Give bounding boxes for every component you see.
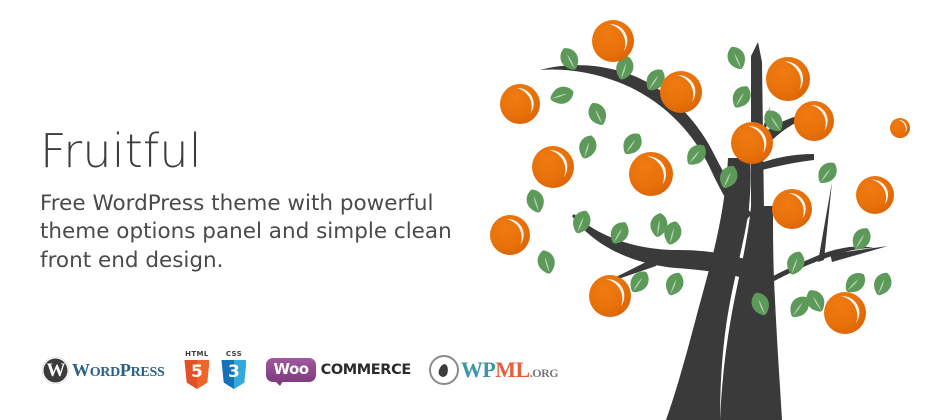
wordpress-wordmark-w: W xyxy=(72,360,90,380)
orange-fruit-icon xyxy=(592,20,634,62)
orange-fruit-icon xyxy=(794,101,834,141)
orange-fruit-icon xyxy=(772,189,812,229)
orange-fruit-icon xyxy=(890,118,910,138)
leaf-icon xyxy=(814,158,842,187)
orange-fruit-icon xyxy=(490,215,530,255)
woocommerce-bubble-text: Woo xyxy=(273,360,308,378)
orange-tree-illustration xyxy=(470,0,940,420)
leaf-icon xyxy=(728,82,755,111)
wordpress-icon: W xyxy=(42,357,69,384)
orange-fruit-icon xyxy=(500,84,540,124)
wpml-icon xyxy=(429,355,459,385)
html5-label: HTML xyxy=(185,351,209,358)
tree-branches xyxy=(540,42,888,420)
orange-fruit-icon xyxy=(824,292,866,334)
leaf-icon xyxy=(535,248,558,276)
hero-copy: Fruitful Free WordPress theme with power… xyxy=(40,128,470,276)
orange-fruit-icon xyxy=(629,152,673,196)
html5-shield-icon: 5 xyxy=(184,360,209,389)
badge-woocommerce[interactable]: Woo COMMERCE xyxy=(266,348,410,392)
wpml-drop-shape xyxy=(438,363,450,378)
css3-number: 3 xyxy=(228,364,240,381)
wordpress-wordmark-ord: ORD xyxy=(90,365,120,380)
badge-css3[interactable]: CSS 3 xyxy=(221,348,246,392)
leaf-icon xyxy=(585,99,610,128)
css3-shield-icon: 3 xyxy=(221,360,246,389)
badge-wordpress[interactable]: W WORDPRESS xyxy=(42,348,164,392)
orange-fruit-icon xyxy=(532,146,574,188)
leaf-icon xyxy=(870,270,895,299)
woocommerce-wordmark: COMMERCE xyxy=(321,362,411,378)
leaf-icon xyxy=(662,270,687,299)
orange-fruit-icon xyxy=(766,57,810,101)
orange-fruit-icon xyxy=(660,71,702,113)
page-title: Fruitful xyxy=(40,128,470,176)
wordpress-wordmark-p: P xyxy=(120,360,131,380)
orange-tree-svg xyxy=(470,0,940,420)
badge-html5[interactable]: HTML 5 xyxy=(184,348,209,392)
leaf-icon xyxy=(576,133,599,161)
page-subtitle: Free WordPress theme with powerful theme… xyxy=(40,190,460,276)
hero-banner: Fruitful Free WordPress theme with power… xyxy=(0,0,940,420)
html5-number: 5 xyxy=(191,364,203,381)
orange-fruit-icon xyxy=(856,176,894,214)
wordpress-wordmark: WORDPRESS xyxy=(72,360,164,381)
wordpress-wordmark-ress: RESS xyxy=(131,365,165,380)
orange-fruit-icon xyxy=(731,122,773,164)
css3-label: CSS xyxy=(226,351,242,358)
orange-fruit-icon xyxy=(589,275,631,317)
leaf-icon xyxy=(548,84,576,107)
wordpress-icon-letter: W xyxy=(47,361,65,380)
woocommerce-bubble-icon: Woo xyxy=(266,358,315,382)
leaf-icon xyxy=(724,44,749,73)
leaf-icon xyxy=(524,187,547,215)
